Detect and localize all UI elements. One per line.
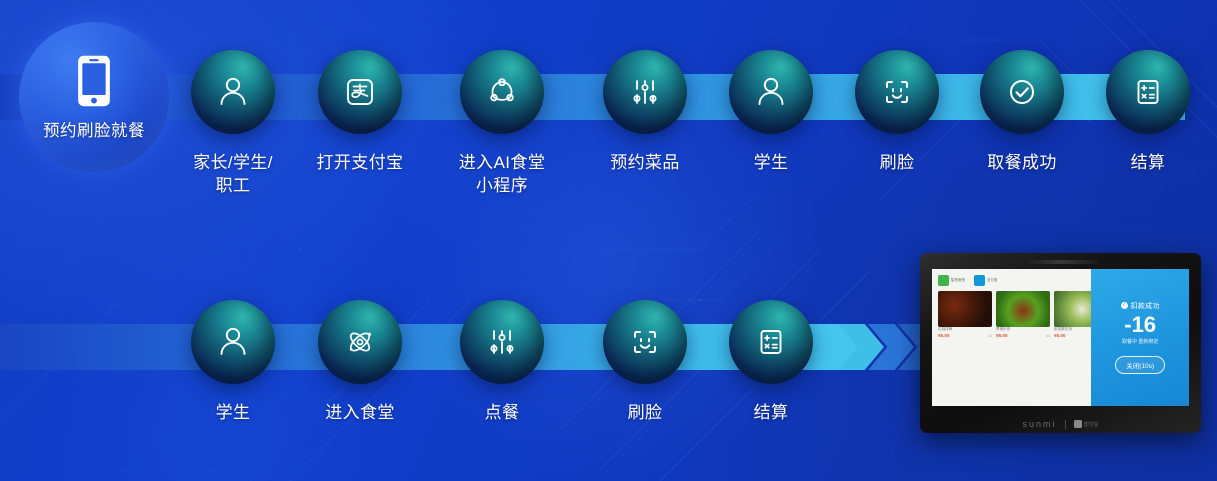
atom-icon — [341, 323, 379, 361]
step-orb — [729, 50, 813, 134]
step-face-scan[interactable]: 刷脸 — [589, 300, 701, 425]
step-reserve-dish[interactable]: 预约菜品 — [589, 50, 701, 175]
sunmi-logo: sunmi — [1022, 419, 1056, 429]
step-label: 点餐 — [446, 402, 558, 425]
dish-name: 青椒炒肉 — [996, 327, 1050, 332]
step-label: 进入食堂 — [305, 402, 415, 425]
step-label: 学生 — [176, 402, 290, 425]
hero-label: 预约刷脸就餐 — [43, 117, 145, 141]
dish-qty: x1 — [1046, 334, 1050, 338]
dish-item: 红烧排骨 ¥5.00 x1 — [938, 291, 992, 338]
step-face-scan[interactable]: 刷脸 — [841, 50, 953, 175]
step-label: 学生 — [715, 152, 827, 175]
step-order-food[interactable]: 点餐 — [446, 300, 558, 425]
dish-price: ¥5.00 — [938, 333, 950, 338]
dish-meta: ¥5.00 x1 — [996, 333, 1050, 338]
step-label: 取餐成功 — [966, 152, 1078, 175]
step-open-alipay[interactable]: 打开支付宝 — [305, 50, 415, 175]
step-student[interactable]: 学生 — [176, 300, 290, 425]
smartphone-icon — [68, 53, 120, 109]
dish-qty: x1 — [988, 334, 992, 338]
person-icon — [214, 323, 252, 361]
sliders-icon — [483, 323, 521, 361]
close-button[interactable]: 关闭(10s) — [1115, 356, 1165, 374]
payment-status-row: ✓ 扣款成功 — [1121, 301, 1160, 311]
hero-reservation[interactable]: 预约刷脸就餐 — [19, 22, 169, 172]
step-student[interactable]: 学生 — [715, 50, 827, 175]
alipay-partner-logo: 支付宝 — [1074, 420, 1099, 428]
dish-name: 红烧排骨 — [938, 327, 992, 332]
step-orb — [980, 50, 1064, 134]
check-glyph: ✓ — [1122, 303, 1126, 308]
step-pickup-success[interactable]: 取餐成功 — [966, 50, 1078, 175]
app-tag-label: 智慧食堂 — [951, 278, 965, 282]
check-circle-icon — [1003, 73, 1041, 111]
app-tag-row: 智慧食堂 支付宝 — [938, 275, 1086, 286]
step-enter-canteen[interactable]: 进入食堂 — [305, 300, 415, 425]
calculator-icon — [752, 323, 790, 361]
step-label: 刷脸 — [841, 152, 953, 175]
app-tag-label: 支付宝 — [987, 278, 997, 282]
step-orb — [318, 300, 402, 384]
dish-price: ¥5.00 — [996, 333, 1008, 338]
payment-amount: -16 — [1124, 313, 1156, 336]
alipay-mark-icon — [1074, 420, 1082, 428]
step-orb — [603, 300, 687, 384]
dish-photo — [938, 291, 992, 327]
step-label: 预约菜品 — [589, 152, 701, 175]
person-icon — [214, 73, 252, 111]
alipay-app-icon — [974, 275, 985, 286]
dish-price: ¥6.00 — [1054, 333, 1066, 338]
step-orb — [460, 50, 544, 134]
sliders-icon — [626, 73, 664, 111]
canteen-app-icon — [938, 275, 949, 286]
payment-subtext: 取餐中 重新绑定 — [1122, 338, 1158, 345]
payment-status-text: 扣款成功 — [1131, 301, 1160, 311]
step-label: 家长/学生/ 职工 — [176, 152, 290, 198]
device-branding: sunmi 支付宝 — [920, 419, 1201, 429]
brand-divider — [1065, 420, 1066, 429]
step-orb — [460, 300, 544, 384]
step-parent-student-staff[interactable]: 家长/学生/ 职工 — [176, 50, 290, 198]
ai-network-icon — [483, 73, 521, 111]
face-scan-icon — [878, 73, 916, 111]
step-orb — [729, 300, 813, 384]
pos-terminal-photo: 智慧食堂 支付宝 红烧排骨 ¥5.00 x1 — [920, 253, 1201, 433]
device-speaker — [1024, 260, 1098, 264]
step-enter-ai-canteen-miniapp[interactable]: 进入AI食堂 小程序 — [443, 50, 561, 198]
step-settlement[interactable]: 结算 — [1092, 50, 1204, 175]
dish-list: 红烧排骨 ¥5.00 x1 青椒炒肉 ¥5.00 x1 紫菜 — [938, 291, 1086, 338]
device-screen: 智慧食堂 支付宝 红烧排骨 ¥5.00 x1 — [932, 269, 1189, 406]
dish-meta: ¥5.00 x1 — [938, 333, 992, 338]
order-summary-panel: 智慧食堂 支付宝 红烧排骨 ¥5.00 x1 — [932, 269, 1091, 406]
step-label: 打开支付宝 — [305, 152, 415, 175]
alipay-icon — [341, 73, 379, 111]
calculator-icon — [1129, 73, 1167, 111]
face-scan-icon — [626, 323, 664, 361]
app-tag-alipay: 支付宝 — [974, 275, 997, 286]
step-label: 刷脸 — [589, 402, 701, 425]
alipay-partner-label: 支付宝 — [1084, 421, 1099, 428]
step-settlement[interactable]: 结算 — [715, 300, 827, 425]
dish-item: 青椒炒肉 ¥5.00 x1 — [996, 291, 1050, 338]
step-label: 结算 — [1092, 152, 1204, 175]
person-icon — [752, 73, 790, 111]
step-orb — [603, 50, 687, 134]
step-orb — [1106, 50, 1190, 134]
step-label: 结算 — [715, 402, 827, 425]
dish-photo — [996, 291, 1050, 327]
step-orb — [318, 50, 402, 134]
app-tag-canteen: 智慧食堂 — [938, 275, 965, 286]
check-circle-icon: ✓ — [1121, 302, 1128, 309]
step-orb — [855, 50, 939, 134]
payment-result-panel: ✓ 扣款成功 -16 取餐中 重新绑定 关闭(10s) — [1091, 269, 1189, 406]
reservation-flow-row: 预约刷脸就餐 家长/学生/ 职工 打开支付宝 — [0, 0, 1217, 240]
step-label: 进入AI食堂 小程序 — [443, 152, 561, 198]
step-orb — [191, 300, 275, 384]
step-orb — [191, 50, 275, 134]
